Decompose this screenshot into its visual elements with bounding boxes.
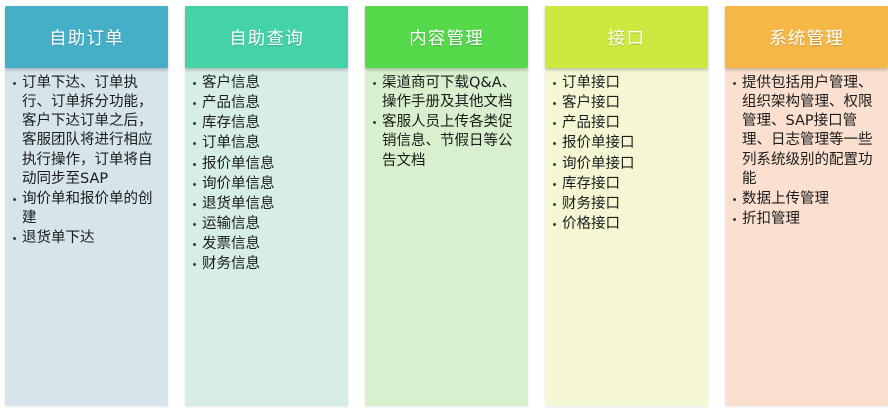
card-bullet-list: 提供包括用户管理、组织架构管理、权限管理、SAP接口管理、日志管理等一些列系统级… (731, 74, 882, 229)
feature-card-interface[interactable]: 接口订单接口客户接口产品接口报价单接口询价单接口库存接口财务接口价格接口 (545, 6, 708, 406)
list-item[interactable]: 渠道商可下载Q&A、操作手册及其他文档 (371, 74, 522, 112)
list-item[interactable]: 产品信息 (191, 94, 342, 113)
feature-card-self-service-query[interactable]: 自助查询客户信息产品信息库存信息订单信息报价单信息询价单信息退货单信息运输信息发… (185, 6, 348, 406)
card-title: 接口 (608, 25, 645, 50)
list-item[interactable]: 客服人员上传各类促销信息、节假日等公告文档 (371, 113, 522, 170)
feature-card-system-management[interactable]: 系统管理提供包括用户管理、组织架构管理、权限管理、SAP接口管理、日志管理等一些… (725, 6, 888, 406)
card-bullet-list: 订单下达、订单执行、订单拆分功能，客户下达订单之后，客服团队将进行相应执行操作，… (11, 74, 162, 248)
card-header-content-management[interactable]: 内容管理 (365, 6, 528, 68)
card-title: 内容管理 (409, 25, 484, 50)
card-body-system-management: 提供包括用户管理、组织架构管理、权限管理、SAP接口管理、日志管理等一些列系统级… (725, 68, 888, 406)
list-item[interactable]: 运输信息 (191, 215, 342, 234)
card-body-content-management: 渠道商可下载Q&A、操作手册及其他文档客服人员上传各类促销信息、节假日等公告文档 (365, 68, 528, 406)
card-header-self-service-order[interactable]: 自助订单 (5, 6, 168, 68)
list-item[interactable]: 退货单下达 (11, 229, 162, 248)
list-item[interactable]: 询价单接口 (551, 155, 702, 174)
list-item[interactable]: 客户信息 (191, 74, 342, 93)
card-header-self-service-query[interactable]: 自助查询 (185, 6, 348, 68)
list-item[interactable]: 退货单信息 (191, 195, 342, 214)
list-item[interactable]: 订单接口 (551, 74, 702, 93)
list-item[interactable]: 财务信息 (191, 255, 342, 274)
card-body-self-service-order: 订单下达、订单执行、订单拆分功能，客户下达订单之后，客服团队将进行相应执行操作，… (5, 68, 168, 406)
card-bullet-list: 订单接口客户接口产品接口报价单接口询价单接口库存接口财务接口价格接口 (551, 74, 702, 234)
list-item[interactable]: 发票信息 (191, 235, 342, 254)
card-body-self-service-query: 客户信息产品信息库存信息订单信息报价单信息询价单信息退货单信息运输信息发票信息财… (185, 68, 348, 406)
list-item[interactable]: 数据上传管理 (731, 190, 882, 209)
card-body-interface: 订单接口客户接口产品接口报价单接口询价单接口库存接口财务接口价格接口 (545, 68, 708, 406)
card-header-system-management[interactable]: 系统管理 (725, 6, 888, 68)
list-item[interactable]: 产品接口 (551, 114, 702, 133)
list-item[interactable]: 客户接口 (551, 94, 702, 113)
list-item[interactable]: 订单信息 (191, 134, 342, 153)
card-title: 自助订单 (49, 25, 124, 50)
list-item[interactable]: 库存信息 (191, 114, 342, 133)
list-item[interactable]: 报价单接口 (551, 134, 702, 153)
list-item[interactable]: 价格接口 (551, 215, 702, 234)
card-title: 系统管理 (769, 25, 844, 50)
list-item[interactable]: 询价单信息 (191, 175, 342, 194)
list-item[interactable]: 库存接口 (551, 175, 702, 194)
card-title: 自助查询 (229, 25, 304, 50)
feature-card-self-service-order[interactable]: 自助订单订单下达、订单执行、订单拆分功能，客户下达订单之后，客服团队将进行相应执… (5, 6, 168, 406)
feature-card-board: 自助订单订单下达、订单执行、订单拆分功能，客户下达订单之后，客服团队将进行相应执… (0, 0, 888, 415)
list-item[interactable]: 财务接口 (551, 195, 702, 214)
list-item[interactable]: 询价单和报价单的创建 (11, 190, 162, 228)
feature-card-content-management[interactable]: 内容管理渠道商可下载Q&A、操作手册及其他文档客服人员上传各类促销信息、节假日等… (365, 6, 528, 406)
list-item[interactable]: 订单下达、订单执行、订单拆分功能，客户下达订单之后，客服团队将进行相应执行操作，… (11, 74, 162, 189)
card-bullet-list: 客户信息产品信息库存信息订单信息报价单信息询价单信息退货单信息运输信息发票信息财… (191, 74, 342, 274)
card-bullet-list: 渠道商可下载Q&A、操作手册及其他文档客服人员上传各类促销信息、节假日等公告文档 (371, 74, 522, 171)
list-item[interactable]: 提供包括用户管理、组织架构管理、权限管理、SAP接口管理、日志管理等一些列系统级… (731, 74, 882, 189)
card-header-interface[interactable]: 接口 (545, 6, 708, 68)
list-item[interactable]: 报价单信息 (191, 155, 342, 174)
list-item[interactable]: 折扣管理 (731, 210, 882, 229)
